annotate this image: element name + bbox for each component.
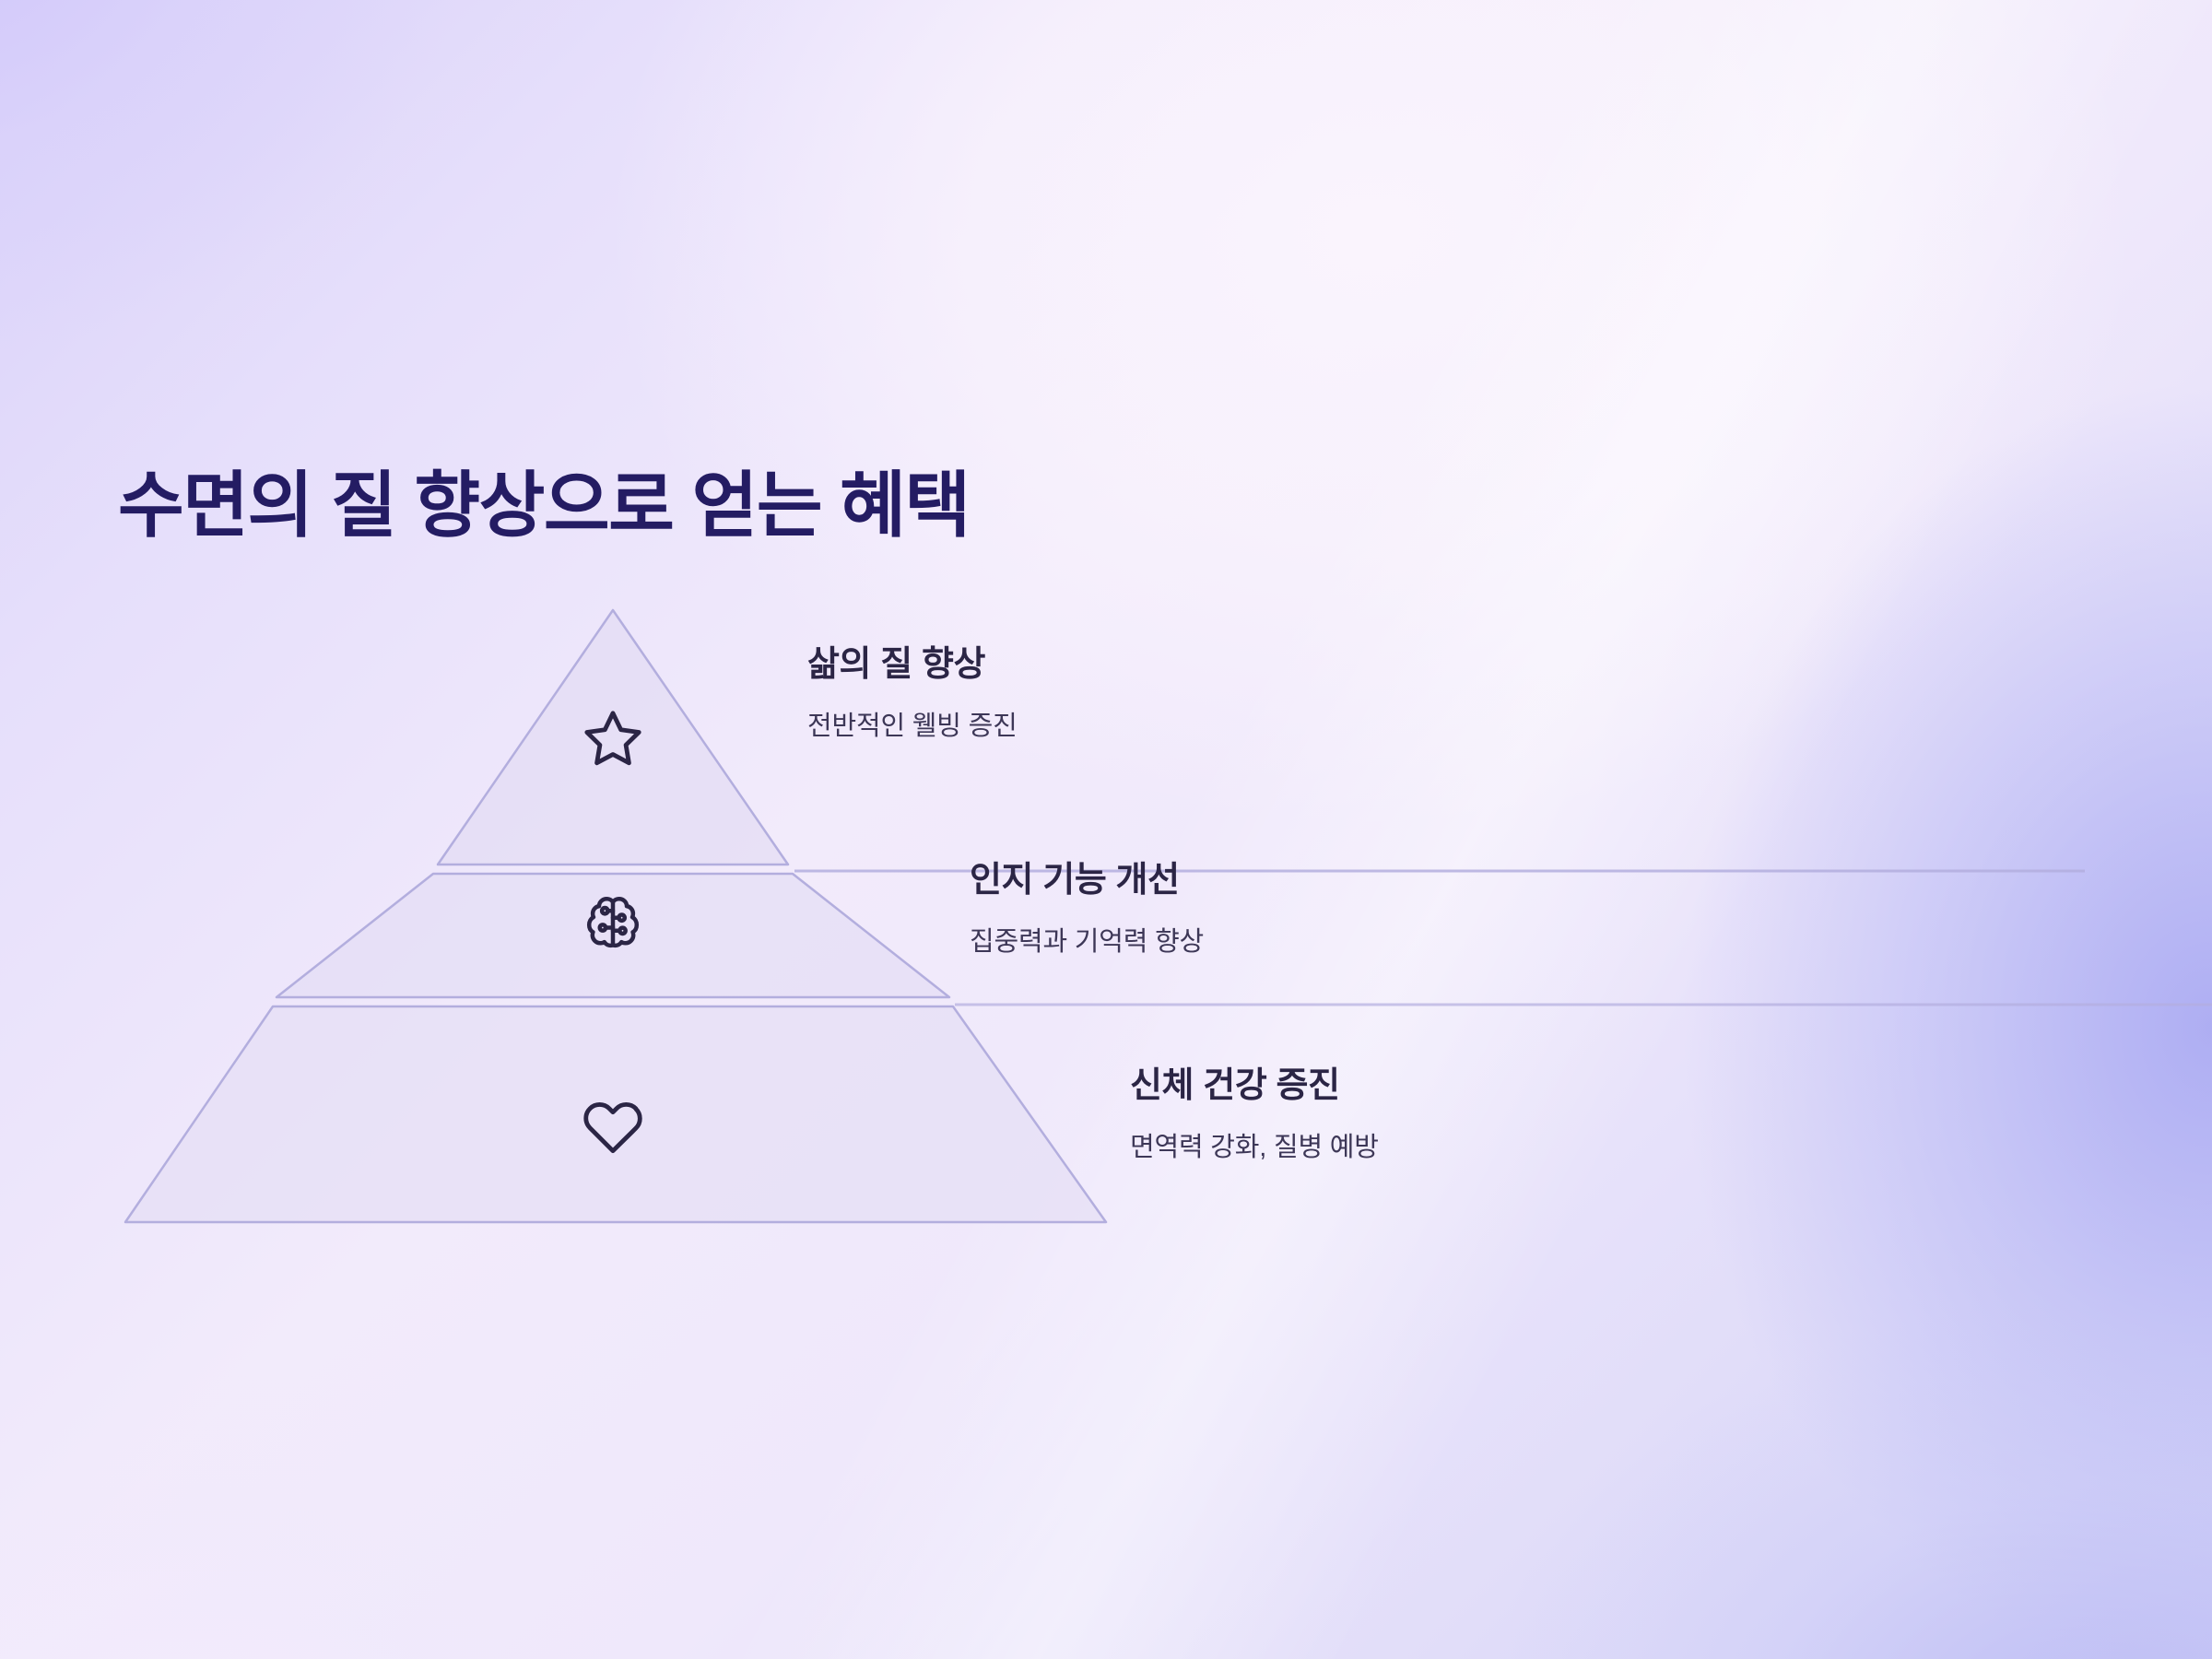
level-3-heading: 신체 건강 증진	[1130, 1065, 1379, 1109]
pyramid-level-2-text: 인지 기능 개선 집중력과 기억력 향상	[970, 859, 1204, 959]
level-2-subtext: 집중력과 기억력 향상	[970, 925, 1204, 960]
heart-icon	[580, 1093, 646, 1159]
level-1-subtext: 전반적인 웰빙 증진	[807, 710, 1018, 745]
brain-circuit-icon	[580, 890, 646, 957]
level-1-heading: 삶의 질 향상	[807, 643, 1018, 688]
star-icon	[580, 706, 646, 772]
page-title: 수면의 질 향상으로 얻는 혜택	[118, 465, 970, 547]
level-2-heading: 인지 기능 개선	[970, 859, 1204, 903]
pyramid-level-3-text: 신체 건강 증진 면역력 강화, 질병 예방	[1130, 1065, 1379, 1165]
slide-canvas: 수면의 질 향상으로 얻는 혜택	[0, 0, 2212, 1659]
pyramid-level-1-text: 삶의 질 향상 전반적인 웰빙 증진	[807, 643, 1018, 744]
level-3-subtext: 면역력 강화, 질병 예방	[1130, 1131, 1379, 1166]
